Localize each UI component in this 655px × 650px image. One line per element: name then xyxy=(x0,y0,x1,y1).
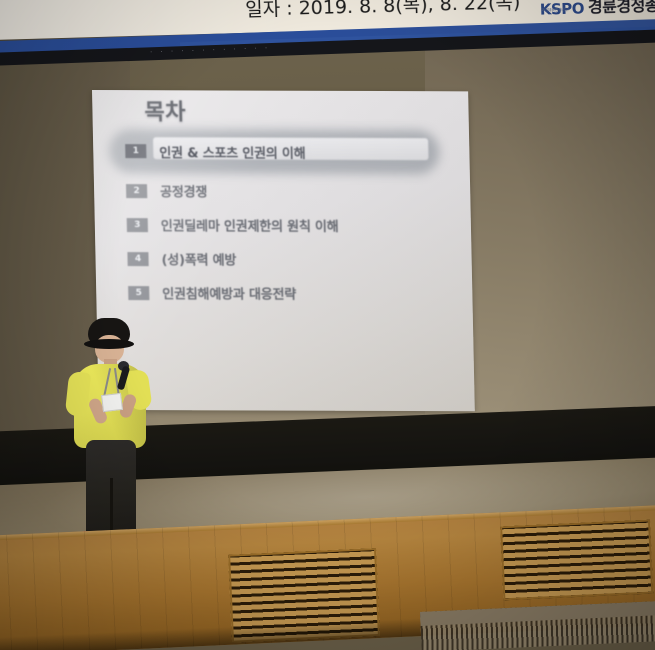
banner-strip-text: · · · · · · · · · · · · xyxy=(150,44,270,56)
presenter-leg-separation xyxy=(110,478,113,536)
toc-number-badge: 3 xyxy=(127,218,148,232)
presenter-hat-brim xyxy=(84,339,134,349)
toc-item-label: 인권딜레마 인권제한의 원칙 이해 xyxy=(161,215,339,235)
presenter-name-badge xyxy=(101,393,123,412)
toc-number-badge: 1 xyxy=(125,144,146,158)
toc-item-5: 5 인권침해예방과 대응전략 xyxy=(114,280,455,306)
toc-item-label: 인권침해예방과 대응전략 xyxy=(162,283,296,302)
toc-item-4: 4 (성)폭력 예방 xyxy=(113,246,454,272)
auditorium-photo: 교육 일자 : 2019. 8. 8(목), 8. 22(목) KSPO 국민체… xyxy=(0,0,655,650)
toc-item-3: 3 인권딜레마 인권제한의 원칙 이해 xyxy=(113,212,454,238)
slide-title: 목차 xyxy=(144,94,186,126)
kspo-sub-label: 국민체육진흥공단 xyxy=(541,7,569,14)
banner-date-text: 일자 : 2019. 8. 8(목), 8. 22(목) xyxy=(245,0,521,22)
toc-item-1: 1 인권 & 스포츠 인권의 이해 xyxy=(111,136,452,167)
kspo-logo: KSPO 국민체육진흥공단 경륜경정총괄 xyxy=(539,0,655,19)
toc-number-badge: 5 xyxy=(128,286,149,300)
kspo-korean-label: 경륜경정총괄 xyxy=(588,0,655,17)
toc-number-badge: 2 xyxy=(126,184,147,198)
toc-item-label: 인권 & 스포츠 인권의 이해 xyxy=(159,142,305,162)
stage-vent-panel-right xyxy=(500,520,653,601)
slide-toc-list: 1 인권 & 스포츠 인권의 이해 2 공정경쟁 3 인권딜레마 인권제한의 원… xyxy=(111,136,455,315)
toc-item-label: (성)폭력 예방 xyxy=(161,249,236,268)
toc-item-label: 공정경쟁 xyxy=(160,181,207,200)
toc-item-2: 2 공정경쟁 xyxy=(112,178,453,204)
toc-number-badge: 4 xyxy=(127,252,148,266)
